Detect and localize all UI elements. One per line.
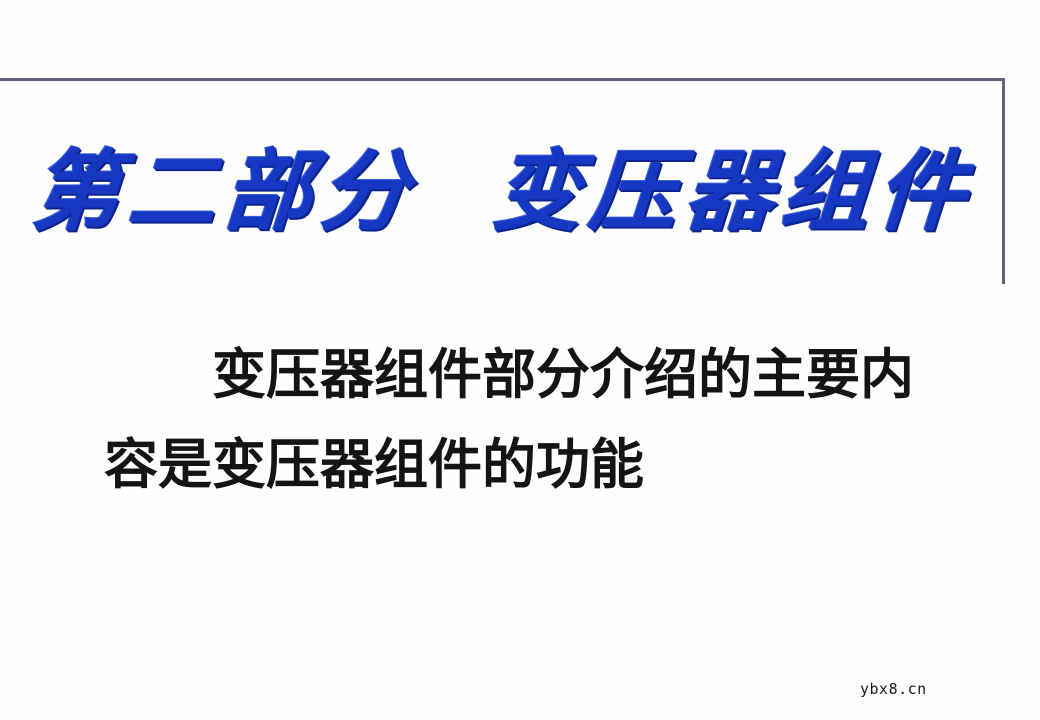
slide-body: 变压器组件部分介绍的主要内 容是变压器组件的功能 <box>104 330 944 510</box>
decorative-top-rule <box>0 78 1005 81</box>
body-line-2: 容是变压器组件的功能 <box>104 420 944 510</box>
site-watermark: ybx8.cn <box>860 680 927 698</box>
slide-canvas: 第二部分 变压器组件 变压器组件部分介绍的主要内 容是变压器组件的功能 ybx8… <box>0 0 1040 720</box>
slide-title: 第二部分 变压器组件 <box>29 147 976 235</box>
slide-title-container: 第二部分 变压器组件 <box>0 128 1005 253</box>
body-line-1: 变压器组件部分介绍的主要内 <box>104 330 944 420</box>
